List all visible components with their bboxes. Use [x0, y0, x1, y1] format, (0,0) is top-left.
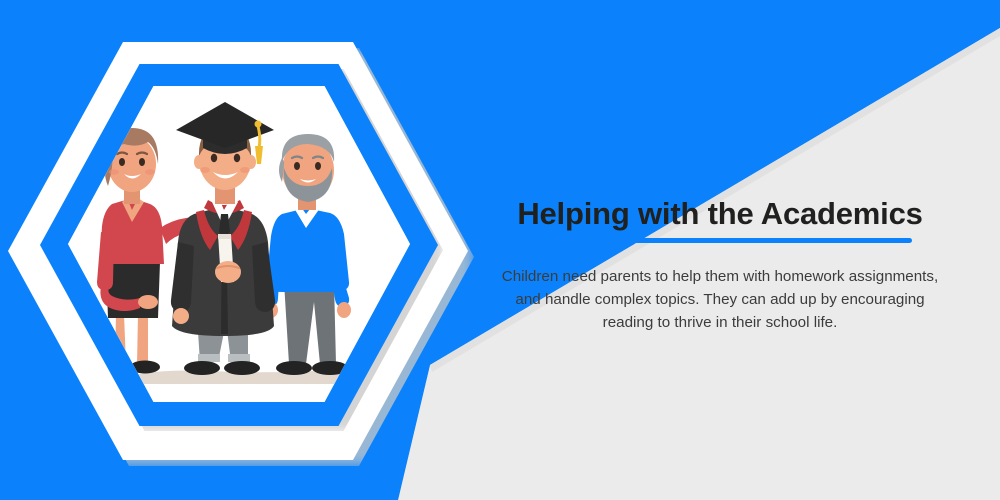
promo-banner: Helping with the Academics Children need…: [0, 0, 1000, 500]
graduate-ear-right: [246, 155, 256, 169]
page-title: Helping with the Academics: [470, 196, 970, 233]
father-eye-left: [294, 162, 300, 170]
graduate-cuff-left: [198, 354, 220, 362]
body-paragraph: Children need parents to help them with …: [489, 265, 951, 334]
mother-leg-right: [137, 314, 148, 364]
title-underline: [528, 238, 912, 243]
graduate-eye-left: [211, 154, 217, 162]
graduate-diploma-top: [218, 234, 231, 239]
text-panel: Helping with the Academics Children need…: [470, 196, 970, 334]
father-eye-right: [315, 162, 321, 170]
mother-eye-right: [139, 158, 145, 166]
graduate-cuff-right: [228, 354, 250, 362]
mother-hand-left: [138, 295, 158, 309]
father-shoe-left: [276, 361, 312, 375]
graduate-tassel-cord: [258, 126, 260, 148]
father-hand-right: [337, 302, 351, 318]
hexagon-badge: [0, 0, 500, 500]
graduate-blush-right: [240, 167, 250, 173]
graduate-hand-right: [215, 261, 241, 283]
graduate-shoe-left: [184, 361, 220, 375]
graduate-shoe-right: [224, 361, 260, 375]
mother-blush-right: [145, 169, 155, 175]
mother-eye-left: [119, 158, 125, 166]
title-underline-row: [470, 238, 970, 243]
mother-blush-left: [109, 169, 119, 175]
graduate-eye-right: [234, 154, 240, 162]
graduate-ear-left: [194, 155, 204, 169]
graduate-blush-left: [200, 167, 210, 173]
graduate-hand-left: [173, 308, 189, 324]
